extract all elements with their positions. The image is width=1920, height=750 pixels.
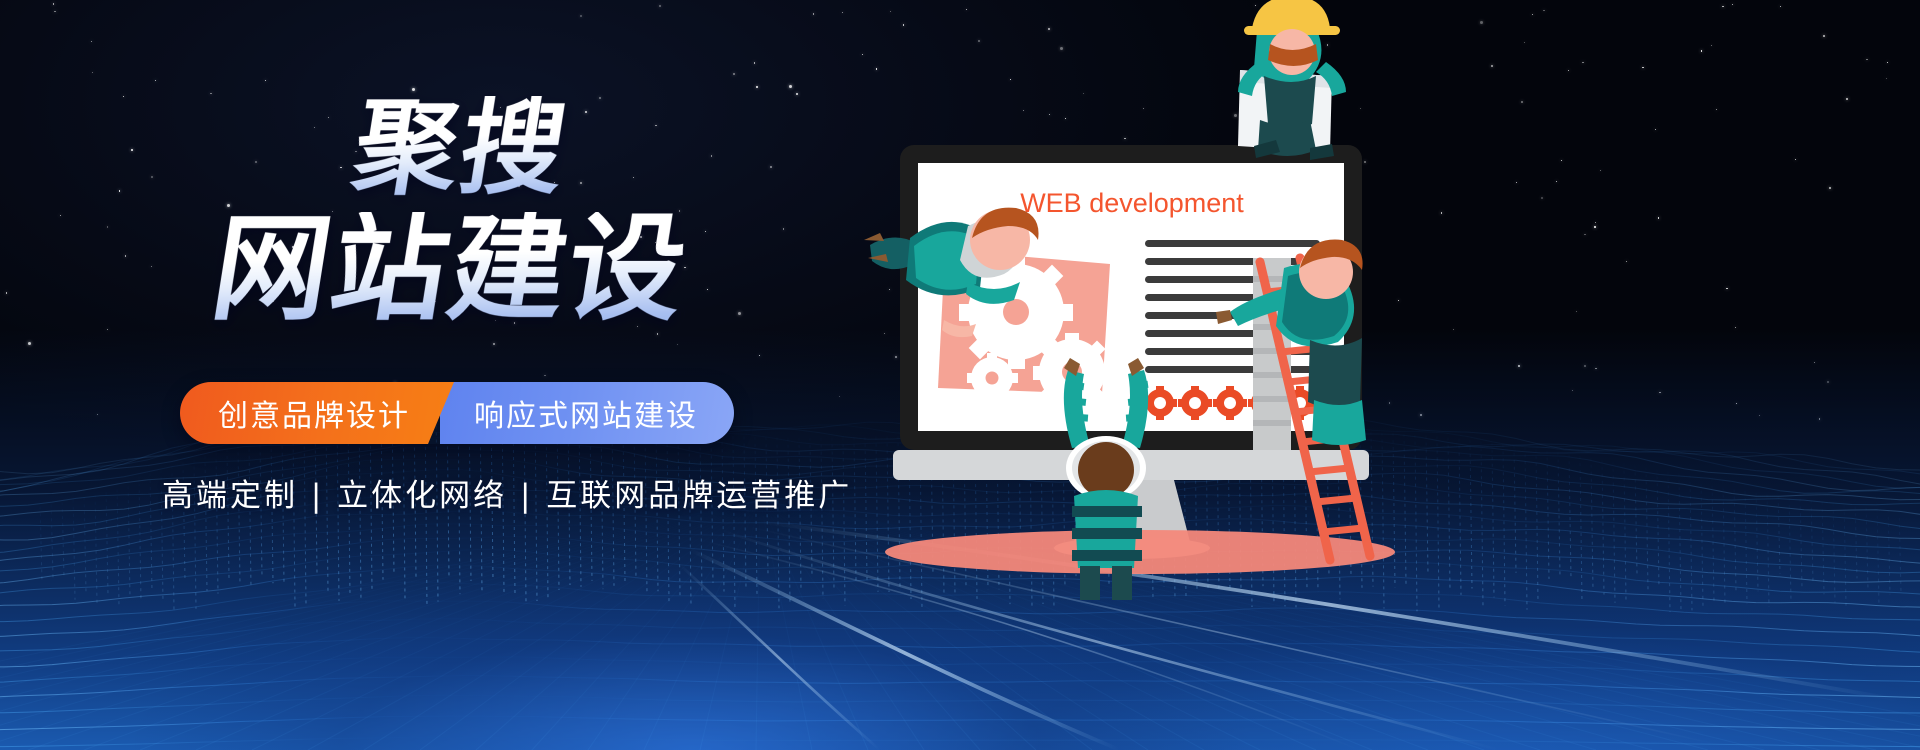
promo-banner: 聚搜 网站建设 创意品牌设计 响应式网站建设 高端定制 | 立体化网络 | 互联… bbox=[0, 0, 1920, 750]
monitor-illustration: WEB development bbox=[840, 0, 1460, 600]
brand-title-line1: 聚搜 bbox=[347, 96, 878, 200]
monitor-illustration-svg: WEB development bbox=[840, 0, 1460, 600]
brand-title-line2: 网站建设 bbox=[205, 212, 879, 328]
subtitle-services: 高端定制 | 立体化网络 | 互联网品牌运营推广 bbox=[162, 470, 852, 515]
worker-with-blueprint-top bbox=[1238, 0, 1346, 160]
headline-block: 聚搜 网站建设 bbox=[150, 96, 870, 328]
hard-hat-icon bbox=[1252, 0, 1330, 28]
screen-heading: WEB development bbox=[1020, 188, 1244, 218]
service-tag-group: 创意品牌设计 响应式网站建设 bbox=[180, 382, 734, 444]
tag-responsive-website-build[interactable]: 响应式网站建设 bbox=[440, 382, 734, 444]
tag-creative-brand-design[interactable]: 创意品牌设计 bbox=[180, 382, 454, 444]
